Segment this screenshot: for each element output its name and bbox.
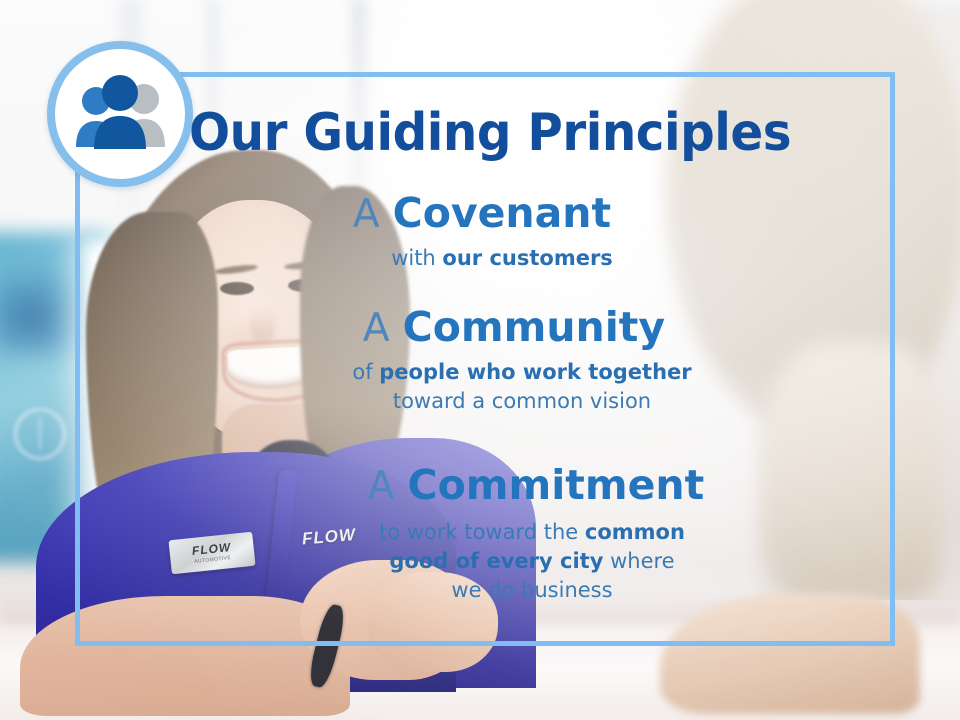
text-content: Our Guiding Principles A Covenant with o… <box>120 72 880 646</box>
principle-title: A Covenant <box>120 190 860 238</box>
principle-block: A Covenant with our customers <box>120 190 860 273</box>
principle-article: A <box>353 192 380 237</box>
subtitle-segment: to work toward the <box>379 520 585 544</box>
principle-article: A <box>368 464 395 509</box>
principle-subtitle: of people who work together toward a com… <box>120 358 860 416</box>
subtitle-segment: toward a common vision <box>393 389 651 413</box>
principle-block: A Community of people who work together … <box>120 304 860 416</box>
subtitle-segment-bold: our customers <box>442 246 612 270</box>
subtitle-segment: where <box>603 549 674 573</box>
principle-keyword: Community <box>403 303 665 351</box>
subtitle-segment-bold: people who work together <box>379 360 691 384</box>
principle-keyword: Commitment <box>408 461 705 509</box>
page-title: Our Guiding Principles <box>146 104 834 162</box>
principle-article: A <box>363 306 390 351</box>
subtitle-segment: of <box>352 360 379 384</box>
subtitle-segment-bold: common <box>585 520 685 544</box>
subtitle-segment: with <box>391 246 442 270</box>
subtitle-segment-bold: good of every city <box>389 549 603 573</box>
principle-keyword: Covenant <box>393 189 611 237</box>
principle-block: A Commitment to work toward the common g… <box>120 462 860 605</box>
principle-title: A Community <box>120 304 860 352</box>
principle-subtitle: to work toward the common good of every … <box>120 518 860 605</box>
principle-subtitle: with our customers <box>120 244 860 273</box>
guiding-principles-banner: FLOW AUTOMOTIVE FLOW Our Guiding Pr <box>0 0 960 720</box>
subtitle-segment: we do business <box>451 578 612 602</box>
principle-title: A Commitment <box>120 462 860 510</box>
